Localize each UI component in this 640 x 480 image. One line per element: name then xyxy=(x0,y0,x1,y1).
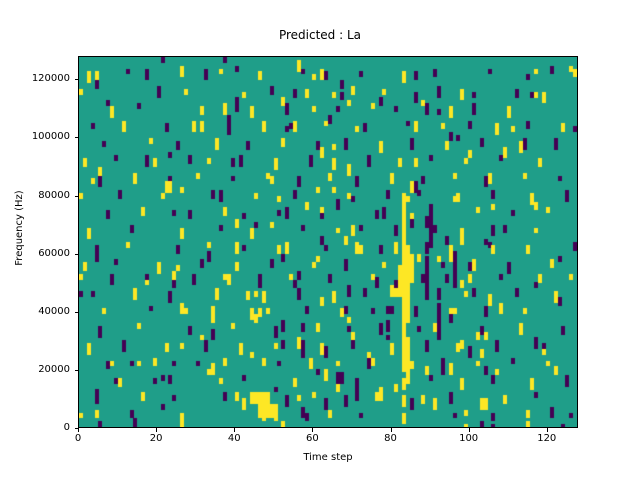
y-tick-label: 60000 xyxy=(0,248,70,260)
y-tick-label: 80000 xyxy=(0,190,70,202)
x-tick-label: 20 xyxy=(126,433,186,445)
y-tick-label: 100000 xyxy=(0,131,70,143)
x-tick-mark xyxy=(156,428,157,432)
x-axis-label: Time step xyxy=(78,452,578,464)
matplotlib-figure: Predicted : La 020406080100120 020000400… xyxy=(0,0,640,480)
x-tick-mark xyxy=(547,428,548,432)
chart-title: Predicted : La xyxy=(0,28,640,42)
x-tick-mark xyxy=(469,428,470,432)
heatmap-canvas xyxy=(79,57,577,427)
x-tick-label: 100 xyxy=(439,433,499,445)
x-tick-label: 80 xyxy=(361,433,421,445)
y-tick-mark xyxy=(75,428,79,429)
x-tick-label: 0 xyxy=(48,433,108,445)
y-tick-mark xyxy=(75,254,79,255)
y-tick-mark xyxy=(75,196,79,197)
x-tick-mark xyxy=(391,428,392,432)
y-tick-label: 0 xyxy=(0,422,70,434)
x-tick-label: 40 xyxy=(204,433,264,445)
x-tick-label: 60 xyxy=(282,433,342,445)
y-tick-mark xyxy=(75,370,79,371)
y-tick-label: 120000 xyxy=(0,73,70,85)
y-tick-mark xyxy=(75,312,79,313)
y-tick-mark xyxy=(75,79,79,80)
x-tick-mark xyxy=(78,428,79,432)
y-tick-label: 40000 xyxy=(0,306,70,318)
x-tick-mark xyxy=(312,428,313,432)
y-tick-label: 20000 xyxy=(0,364,70,376)
y-tick-mark xyxy=(75,137,79,138)
x-tick-mark xyxy=(234,428,235,432)
x-tick-label: 120 xyxy=(517,433,577,445)
heatmap-plot-area xyxy=(78,56,578,428)
y-axis-label: Frequency (Hz) xyxy=(14,118,26,338)
